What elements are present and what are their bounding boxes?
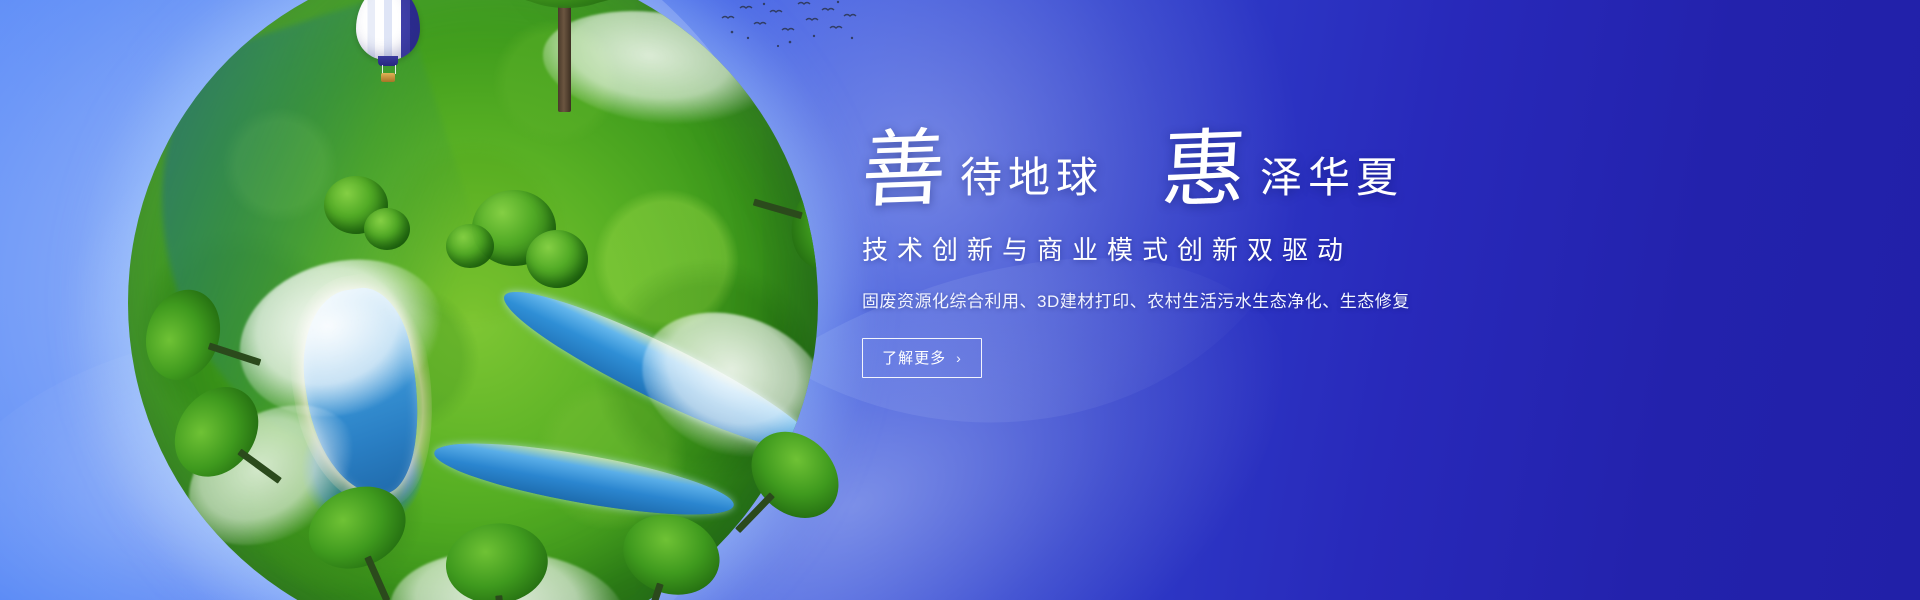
headline-rest-1: 待地球 [952, 157, 1104, 208]
tree-trunk [208, 343, 262, 366]
chevron-right-icon: › [956, 351, 962, 365]
rim-tree [422, 518, 564, 600]
bird-flock-icon [718, 0, 858, 54]
tree-clump [364, 208, 410, 250]
tree-trunk [735, 492, 775, 533]
tree-trunk [364, 556, 390, 600]
headline-lead-char-2: 惠 [1160, 130, 1254, 209]
hero-banner: 善 待地球 惠 泽华夏 技术创新与商业模式创新双驱动 固废资源化综合利用、3D建… [0, 0, 1920, 600]
tree-crown [508, 0, 624, 8]
hero-subtitle: 技术创新与商业模式创新双驱动 [862, 230, 1762, 267]
headline-lead-char-1: 善 [860, 130, 954, 209]
tree-clump [526, 230, 588, 288]
tree-trunk [558, 0, 571, 112]
large-tree [446, 0, 686, 118]
headline-phrase-1: 善 待地球 [862, 132, 1104, 208]
tiny-planet-illustration [128, 0, 818, 600]
headline-phrase-2: 惠 泽华夏 [1162, 132, 1404, 208]
hero-description: 固废资源化综合利用、3D建材打印、农村生活污水生态净化、生态修复 [862, 287, 1762, 312]
balloon-basket [381, 73, 395, 82]
hot-air-balloon-icon [356, 0, 420, 82]
tree-crown [781, 172, 818, 278]
headline-rest-2: 泽华夏 [1252, 157, 1404, 208]
learn-more-button[interactable]: 了解更多 › [862, 338, 982, 378]
page-title: 善 待地球 惠 泽华夏 [862, 132, 1762, 208]
learn-more-label: 了解更多 [882, 347, 946, 368]
hero-content: 善 待地球 惠 泽华夏 技术创新与商业模式创新双驱动 固废资源化综合利用、3D建… [862, 132, 1762, 378]
tree-crown [442, 518, 552, 600]
tree-trunk [237, 449, 282, 484]
tree-clump [446, 224, 494, 268]
balloon-envelope [356, 0, 420, 60]
